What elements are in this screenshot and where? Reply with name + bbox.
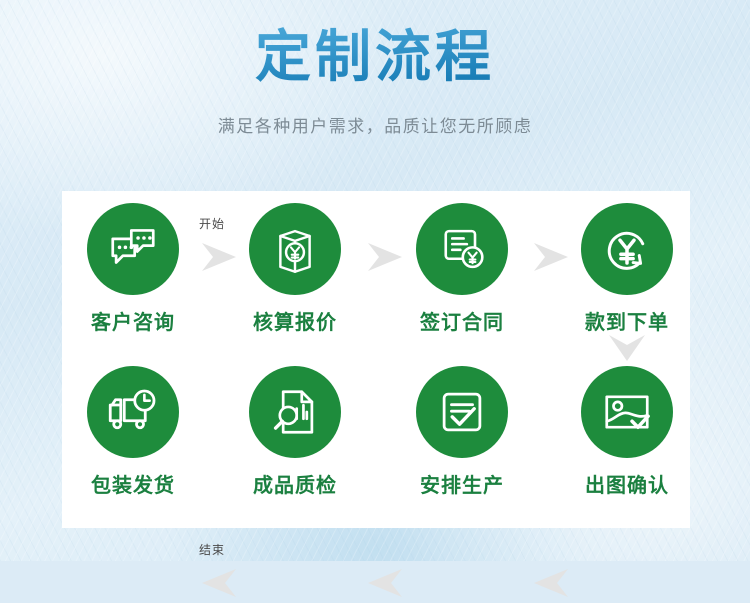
flow-step-label: 包装发货 — [70, 469, 196, 498]
flow-step-quality-inspection[interactable]: 成品质检 — [232, 366, 358, 498]
flow-arrow-left-3 — [528, 563, 574, 603]
flow-arrow-down — [605, 331, 649, 365]
flow-arrow-left-1 — [196, 563, 242, 603]
payment-cycle-yuan-icon — [599, 221, 655, 277]
flow-step-label: 出图确认 — [564, 469, 690, 498]
flow-arrow-right-2 — [362, 237, 408, 277]
flow-end-tag: 结束 — [199, 541, 225, 558]
flow-step-label: 安排生产 — [399, 469, 525, 498]
image-check-icon — [600, 385, 654, 439]
package-yuan-icon — [269, 223, 321, 275]
document-magnifier-icon — [268, 385, 322, 439]
flow-step-icon-circle — [416, 366, 508, 458]
flow-step-icon-circle — [581, 366, 673, 458]
flow-step-customer-inquiry[interactable]: 客户咨询 — [70, 203, 196, 335]
contract-yuan-icon — [436, 223, 488, 275]
flow-step-icon-circle — [581, 203, 673, 295]
flow-step-label: 签订合同 — [399, 306, 525, 335]
flow-step-quotation[interactable]: 核算报价 — [232, 203, 358, 335]
flow-step-icon-circle — [416, 203, 508, 295]
flow-row-1: 客户咨询 核算报价 — [62, 203, 690, 353]
flow-arrow-left-2 — [362, 563, 408, 603]
page-title: 定制流程 — [0, 26, 750, 90]
flow-card: 客户咨询 核算报价 — [62, 191, 690, 528]
chat-bubbles-icon — [106, 222, 160, 276]
flow-step-payment-order[interactable]: 款到下单 — [564, 203, 690, 335]
delivery-truck-clock-icon — [105, 384, 161, 440]
flow-step-icon-circle — [249, 366, 341, 458]
page-subtitle: 满足各种用户需求，品质让您无所顾虑 — [0, 112, 750, 137]
flow-step-arrange-production[interactable]: 安排生产 — [399, 366, 525, 498]
flow-step-drawing-confirmation[interactable]: 出图确认 — [564, 366, 690, 498]
flow-arrow-right-1 — [196, 237, 242, 277]
flow-step-icon-circle — [87, 366, 179, 458]
flow-arrow-right-3 — [528, 237, 574, 277]
flow-step-icon-circle — [249, 203, 341, 295]
flow-start-tag: 开始 — [199, 215, 225, 232]
checklist-check-icon — [436, 386, 488, 438]
flow-step-sign-contract[interactable]: 签订合同 — [399, 203, 525, 335]
flow-step-label: 成品质检 — [232, 469, 358, 498]
flow-step-label: 客户咨询 — [70, 306, 196, 335]
flow-step-packaging-shipping[interactable]: 包装发货 — [70, 366, 196, 498]
flow-step-label: 核算报价 — [232, 306, 358, 335]
page-header: 定制流程 满足各种用户需求，品质让您无所顾虑 — [0, 0, 750, 190]
flow-row-2: 包装发货 成品质检 安排生产 — [62, 366, 690, 516]
flow-step-icon-circle — [87, 203, 179, 295]
